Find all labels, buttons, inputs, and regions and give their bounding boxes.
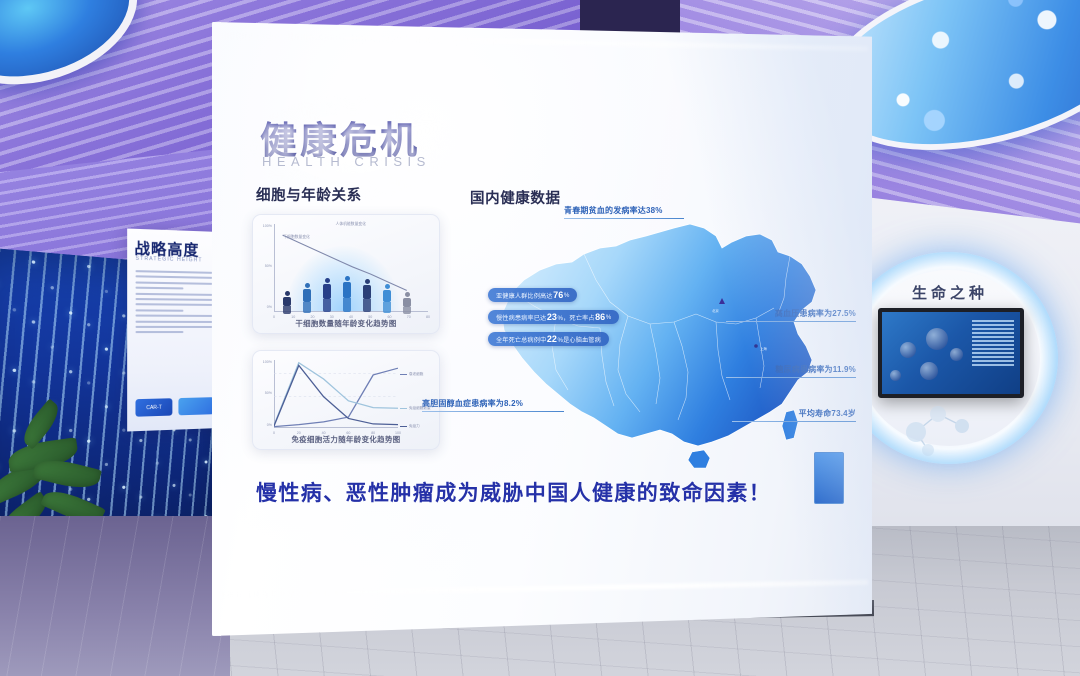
callout-diabetes: 糖尿病患病率为11.9% [726, 364, 856, 378]
panel-title-en: STRATEGIC HEIGHT [135, 256, 202, 264]
y-tick: 0% [253, 305, 272, 309]
stemcell-curve-label: 干细胞数量变化 [283, 235, 310, 240]
wall-display-screen[interactable] [878, 308, 1024, 398]
y-tick: 50% [253, 264, 272, 268]
map-stat-badge: 全年死亡总病例中22%是心脑血管病 [488, 332, 609, 346]
panel-chip-cells [178, 397, 214, 415]
stemcell-plot: 100%50%0% 01020304050607080 干细胞数量变化 人体机能… [274, 224, 428, 312]
callout-anemia: 青春期贫血的发病率达38% [564, 205, 684, 219]
y-tick: 50% [253, 391, 272, 395]
callout-cholesterol: 高胆固醇血症患病率为8.2% [422, 398, 564, 412]
series-1 [274, 363, 398, 426]
human-figure [323, 278, 331, 311]
chart-card-stemcell: 100%50%0% 01020304050607080 干细胞数量变化 人体机能… [252, 214, 440, 334]
human-figure [403, 292, 411, 311]
stemcell-y-axis [274, 224, 275, 312]
immune-caption: 免疫细胞活力随年龄变化趋势图 [252, 434, 440, 445]
screen-text-column [972, 320, 1014, 368]
headline-warning: 慢性病、恶性肿瘤成为威胁中国人健康的致命因素！ [256, 477, 771, 507]
human-figure [363, 279, 371, 311]
y-tick: 0% [253, 423, 272, 427]
molecule-graphic [892, 392, 984, 458]
floor-left-shadow [0, 516, 230, 676]
page-subtitle: HEALTH CRISIS [262, 154, 431, 169]
stemcell-area-label: 人体机能数量变化 [336, 222, 366, 227]
hainan-island [688, 450, 710, 468]
human-figure [283, 291, 291, 311]
immune-curves [274, 360, 398, 428]
south-china-sea-inset [814, 452, 844, 504]
china-map-svg: 北京 上海 [460, 206, 850, 496]
exhibition-display-wall: 健康危机 HEALTH CRISIS 细胞与年龄关系 国内健康数据 100%50… [212, 22, 872, 636]
section-heading-data: 国内健康数据 [470, 187, 561, 208]
panel-body-text [135, 270, 212, 337]
callout-lifespan: 平均寿命73.4岁 [732, 408, 856, 422]
human-figure [303, 283, 311, 311]
human-figure [343, 276, 351, 311]
city-label-shanghai: 上海 [760, 346, 767, 351]
section-heading-cells: 细胞与年龄关系 [256, 184, 362, 205]
exhibition-photo: 战略高度 STRATEGIC HEIGHT CAR-T 生命之种 [0, 0, 1080, 676]
map-stat-badge: 慢性病患病率已达23%，死亡率占86% [488, 310, 619, 324]
legend-item: 衰老细胞 [400, 372, 423, 377]
city-label-beijing: 北京 [712, 308, 719, 313]
human-figure [383, 284, 391, 311]
life-seed-title: 生命之种 [912, 282, 988, 303]
china-health-map: 北京 上海 亚健康人群比例高达76%慢性病患病率已达23%，死亡率占86%全年死… [460, 206, 850, 496]
legend-item: 免疫力 [400, 424, 420, 429]
immune-plot: 100%50%0% 020406080100 [274, 360, 398, 428]
callout-hypertension: 高血压患病率为27.5% [726, 308, 856, 322]
y-tick: 100% [253, 224, 272, 228]
series-2 [274, 365, 398, 426]
y-tick: 100% [253, 360, 272, 364]
chart-card-immune: 100%50%0% 020406080100 衰老细胞免疫细胞数量免疫力 免疫细… [252, 350, 440, 450]
stemcell-caption: 干细胞数量随年龄变化趋势图 [252, 318, 440, 329]
map-stat-badge: 亚健康人群比例高达76% [488, 288, 577, 302]
